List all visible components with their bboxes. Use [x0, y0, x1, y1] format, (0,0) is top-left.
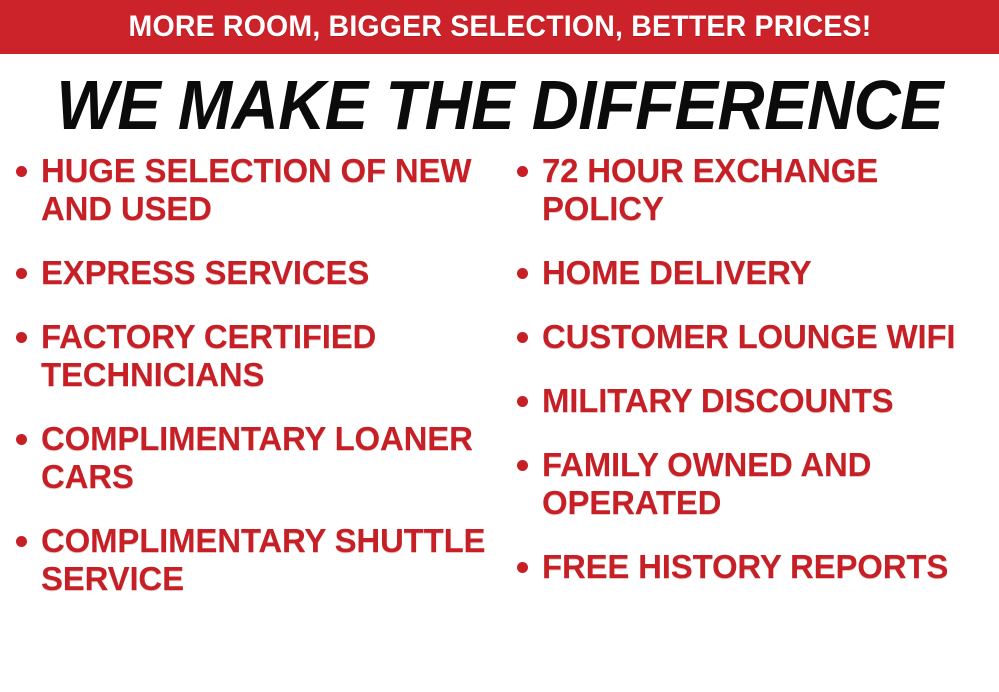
- bullet-dot-icon: [16, 166, 27, 177]
- list-item-label: EXPRESS SERVICES: [41, 254, 369, 292]
- list-item-label: COMPLIMENTARY LOANER CARS: [41, 420, 505, 496]
- bullet-dot-icon: [517, 332, 528, 343]
- list-item-label: CUSTOMER LOUNGE WIFI: [542, 318, 955, 356]
- list-item: COMPLIMENTARY LOANER CARS: [16, 420, 505, 496]
- list-item: FAMILY OWNED AND OPERATED: [517, 446, 999, 522]
- list-item-label: HOME DELIVERY: [542, 254, 811, 292]
- list-item-label: FAMILY OWNED AND OPERATED: [542, 446, 999, 522]
- list-item: FREE HISTORY REPORTS: [517, 548, 999, 586]
- features-column-right: 72 HOUR EXCHANGE POLICY HOME DELIVERY CU…: [505, 152, 999, 624]
- bullet-dot-icon: [517, 460, 528, 471]
- promo-flyer: { "banner": { "text": "MORE ROOM, BIGGER…: [0, 0, 999, 692]
- promo-banner: MORE ROOM, BIGGER SELECTION, BETTER PRIC…: [0, 0, 999, 54]
- features-columns: HUGE SELECTION OF NEW AND USED EXPRESS S…: [0, 152, 999, 624]
- bullet-dot-icon: [517, 268, 528, 279]
- headline-container: WE MAKE THE DIFFERENCE: [0, 72, 999, 138]
- features-column-left: HUGE SELECTION OF NEW AND USED EXPRESS S…: [0, 152, 505, 624]
- list-item: HOME DELIVERY: [517, 254, 999, 292]
- list-item: CUSTOMER LOUNGE WIFI: [517, 318, 999, 356]
- list-item-label: FACTORY CERTIFIED TECHNICIANS: [41, 318, 505, 394]
- list-item: 72 HOUR EXCHANGE POLICY: [517, 152, 999, 228]
- bullet-dot-icon: [16, 268, 27, 279]
- bullet-dot-icon: [517, 562, 528, 573]
- bullet-dot-icon: [517, 396, 528, 407]
- bullet-dot-icon: [517, 166, 528, 177]
- list-item-label: HUGE SELECTION OF NEW AND USED: [41, 152, 505, 228]
- list-item: COMPLIMENTARY SHUTTLE SERVICE: [16, 522, 505, 598]
- list-item: FACTORY CERTIFIED TECHNICIANS: [16, 318, 505, 394]
- list-item-label: 72 HOUR EXCHANGE POLICY: [542, 152, 999, 228]
- promo-banner-text: MORE ROOM, BIGGER SELECTION, BETTER PRIC…: [128, 12, 871, 42]
- bullet-dot-icon: [16, 536, 27, 547]
- list-item-label: MILITARY DISCOUNTS: [542, 382, 893, 420]
- bullet-dot-icon: [16, 332, 27, 343]
- list-item: EXPRESS SERVICES: [16, 254, 505, 292]
- list-item: HUGE SELECTION OF NEW AND USED: [16, 152, 505, 228]
- page-title: WE MAKE THE DIFFERENCE: [56, 72, 943, 138]
- list-item: MILITARY DISCOUNTS: [517, 382, 999, 420]
- list-item-label: FREE HISTORY REPORTS: [542, 548, 948, 586]
- bullet-dot-icon: [16, 434, 27, 445]
- list-item-label: COMPLIMENTARY SHUTTLE SERVICE: [41, 522, 505, 598]
